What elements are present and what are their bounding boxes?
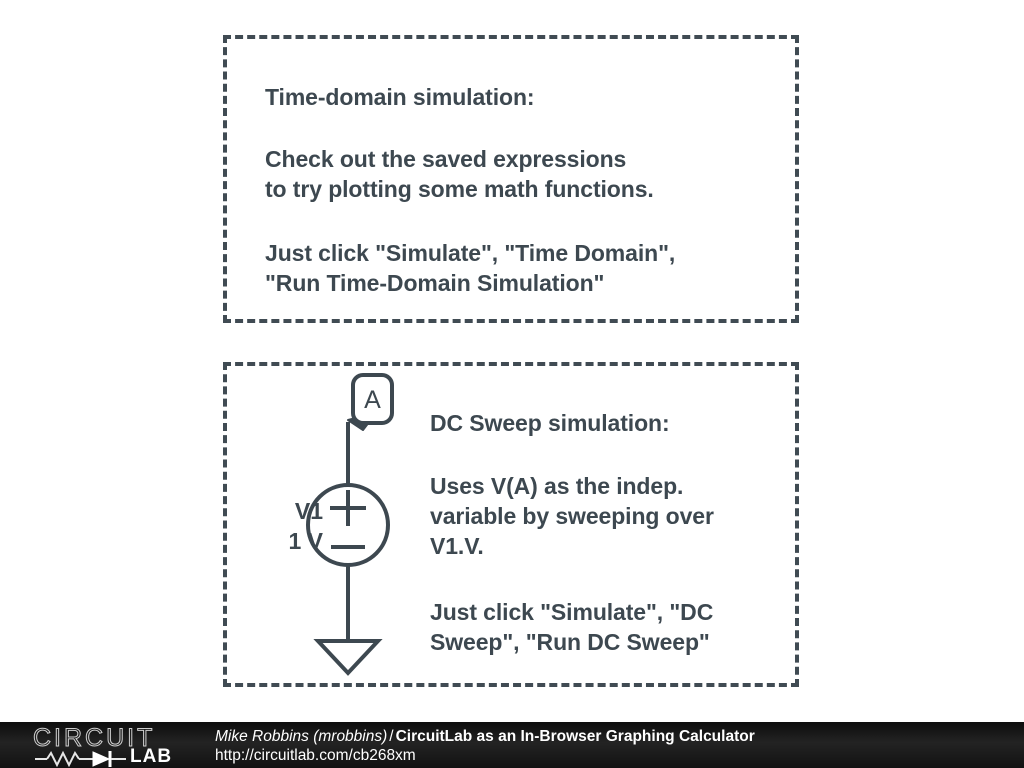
- dc-sweep-body: Uses V(A) as the indep. variable by swee…: [430, 471, 714, 561]
- footer-separator: /: [387, 728, 395, 745]
- footer-url[interactable]: http://circuitlab.com/cb268xm: [215, 746, 416, 765]
- footer-credit-line: Mike Robbins (mrobbins)/CircuitLab as an…: [215, 727, 755, 746]
- time-domain-action: Just click "Simulate", "Time Domain", "R…: [265, 238, 675, 298]
- footer-bar: CIRCUIT LAB Mike Robbins (mrobbins)/Circ…: [0, 722, 1024, 768]
- node-label-text: A: [364, 386, 381, 414]
- schematic-canvas: Time-domain simulation: Check out the sa…: [0, 0, 1024, 722]
- voltage-source-value-label: 1 V: [243, 527, 323, 556]
- footer-author: Mike Robbins (mrobbins): [215, 728, 387, 745]
- time-domain-heading: Time-domain simulation:: [265, 82, 534, 112]
- dc-sweep-action: Just click "Simulate", "DC Sweep", "Run …: [430, 597, 713, 657]
- time-domain-body: Check out the saved expressions to try p…: [265, 144, 654, 204]
- footer-title: CircuitLab as an In-Browser Graphing Cal…: [396, 728, 755, 745]
- voltage-source-name-label: V1: [243, 497, 323, 526]
- logo-wordmark-lab: LAB: [130, 747, 172, 767]
- ground-symbol-icon[interactable]: [318, 641, 378, 673]
- circuitlab-logo[interactable]: CIRCUIT LAB: [33, 725, 193, 767]
- dc-sweep-heading: DC Sweep simulation:: [430, 408, 670, 438]
